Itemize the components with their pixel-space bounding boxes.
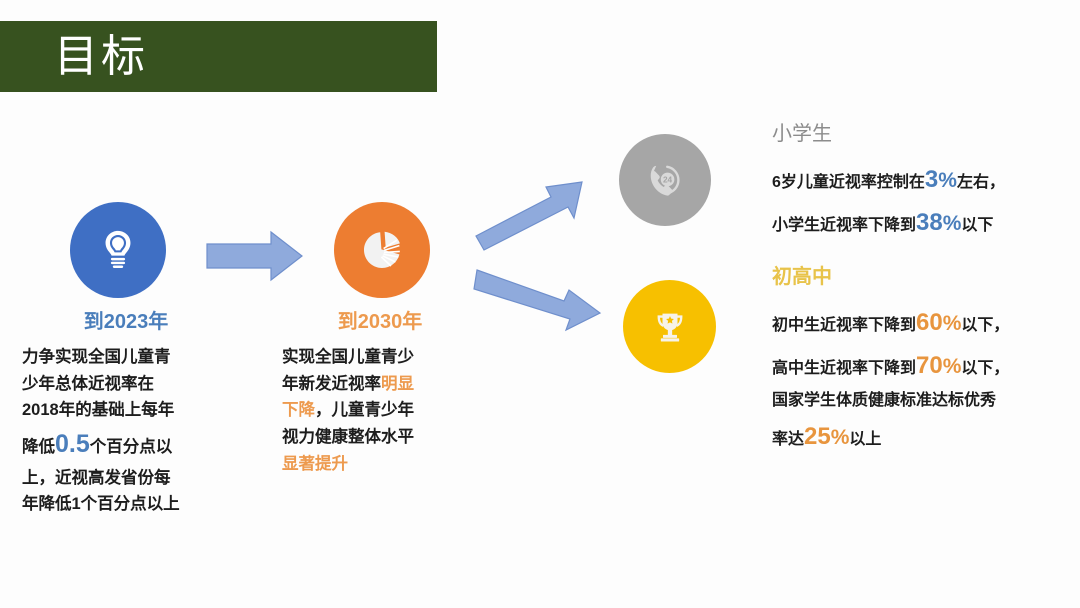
arrow-up-right-icon xyxy=(474,174,599,254)
block-secondary-line-1-post: 以下， xyxy=(961,317,1009,334)
node-icon-circle-2030 xyxy=(334,202,430,298)
block-secondary-line-4-post: 以上 xyxy=(849,431,881,448)
block-2030-emphasis-b: 下降 xyxy=(282,401,315,419)
block-2023-value-percentage-point: 0.5 xyxy=(55,430,90,458)
arrow-down-right-icon xyxy=(472,262,605,344)
block-2023-line-4-pre: 降低 xyxy=(22,438,55,456)
block-2023-heading: 到2023年 xyxy=(22,310,230,334)
node-icon-circle-2023 xyxy=(70,202,166,298)
block-2030-emphasis-c: 显著提升 xyxy=(282,451,478,478)
block-2023-line-3: 2018年的基础上每年 xyxy=(22,397,230,424)
block-primary-line-1: 6岁儿童近视率控制在3%左右， xyxy=(772,159,1064,202)
block-2023-line-5: 上，近视高发省份每 xyxy=(22,465,230,492)
block-secondary-line-1-pre: 初中生近视率下降到 xyxy=(772,317,916,334)
svg-text:24: 24 xyxy=(663,176,673,185)
block-secondary-rate-junior: 60% xyxy=(916,309,961,336)
block-2023-line-6: 年降低1个百分点以上 xyxy=(22,491,230,518)
support-24h-phone-icon: 24 xyxy=(643,158,687,202)
block-primary-heading: 小学生 xyxy=(772,122,1064,146)
block-2030-line-1: 实现全国儿童青少 xyxy=(282,344,478,371)
block-2023-line-4-post: 个百分点以 xyxy=(90,438,173,456)
block-primary-line-2-pre: 小学生近视率下降到 xyxy=(772,217,916,234)
block-primary-rate-age6: 3% xyxy=(925,166,957,193)
block-primary-body: 6岁儿童近视率控制在3%左右， 小学生近视率下降到38%以下 xyxy=(772,159,1064,244)
block-secondary-line-2-post: 以下， xyxy=(961,360,1009,377)
block-secondary-body: 初中生近视率下降到60%以下， 高中生近视率下降到70%以下， 国家学生体质健康… xyxy=(772,302,1064,459)
block-secondary-line-3: 国家学生体质健康标准达标优秀 xyxy=(772,387,1064,415)
block-2030-body: 实现全国儿童青少 年新发近视率明显 下降，儿童青少年 视力健康整体水平 显著提升 xyxy=(282,344,478,478)
block-2030-line-2-pre: 年新发近视率 xyxy=(282,375,381,393)
arrow-right-icon xyxy=(205,227,305,285)
block-secondary-rate-senior: 70% xyxy=(916,352,961,379)
block-2023-line-4: 降低0.5个百分点以 xyxy=(22,424,230,465)
block-2023-body: 力争实现全国儿童青 少年总体近视率在 2018年的基础上每年 降低0.5个百分点… xyxy=(22,344,230,518)
text-block-2030: 到2030年 实现全国儿童青少 年新发近视率明显 下降，儿童青少年 视力健康整体… xyxy=(282,310,478,478)
slide-canvas: 目标 xyxy=(0,0,1080,608)
block-secondary-line-4: 率达25%以上 xyxy=(772,416,1064,459)
block-secondary-line-2: 高中生近视率下降到70%以下， xyxy=(772,345,1064,388)
block-primary-line-1-pre: 6岁儿童近视率控制在 xyxy=(772,174,925,191)
node-icon-circle-secondary xyxy=(623,280,716,373)
block-2023-line-1: 力争实现全国儿童青 xyxy=(22,344,230,371)
trophy-icon xyxy=(650,307,690,347)
block-primary-line-2-post: 以下 xyxy=(961,217,993,234)
block-secondary-line-4-pre: 率达 xyxy=(772,431,804,448)
lightbulb-icon xyxy=(95,227,141,273)
page-title: 目标 xyxy=(54,35,148,79)
text-block-2023: 到2023年 力争实现全国儿童青 少年总体近视率在 2018年的基础上每年 降低… xyxy=(22,310,230,518)
block-2030-line-4: 视力健康整体水平 xyxy=(282,424,478,451)
block-secondary-rate-fitness: 25% xyxy=(804,423,849,450)
block-2030-line-3: 下降，儿童青少年 xyxy=(282,397,478,424)
node-icon-circle-primary: 24 xyxy=(619,134,711,226)
block-2030-heading: 到2030年 xyxy=(282,310,478,334)
text-block-secondary-school: 初高中 初中生近视率下降到60%以下， 高中生近视率下降到70%以下， 国家学生… xyxy=(772,265,1064,459)
slide-title-bar: 目标 xyxy=(0,21,437,92)
block-secondary-line-1: 初中生近视率下降到60%以下， xyxy=(772,302,1064,345)
block-secondary-line-2-pre: 高中生近视率下降到 xyxy=(772,360,916,377)
block-2030-line-2: 年新发近视率明显 xyxy=(282,371,478,398)
block-primary-line-2: 小学生近视率下降到38%以下 xyxy=(772,202,1064,245)
block-2023-line-2: 少年总体近视率在 xyxy=(22,371,230,398)
pie-chart-icon xyxy=(358,226,406,274)
block-primary-line-1-post: 左右， xyxy=(957,174,1005,191)
block-secondary-heading: 初高中 xyxy=(772,265,1064,289)
block-2030-line-3-post: ，儿童青少年 xyxy=(315,401,414,419)
block-2030-emphasis-a: 明显 xyxy=(381,375,414,393)
block-primary-rate-target: 38% xyxy=(916,209,961,236)
text-block-primary-school: 小学生 6岁儿童近视率控制在3%左右， 小学生近视率下降到38%以下 xyxy=(772,122,1064,244)
